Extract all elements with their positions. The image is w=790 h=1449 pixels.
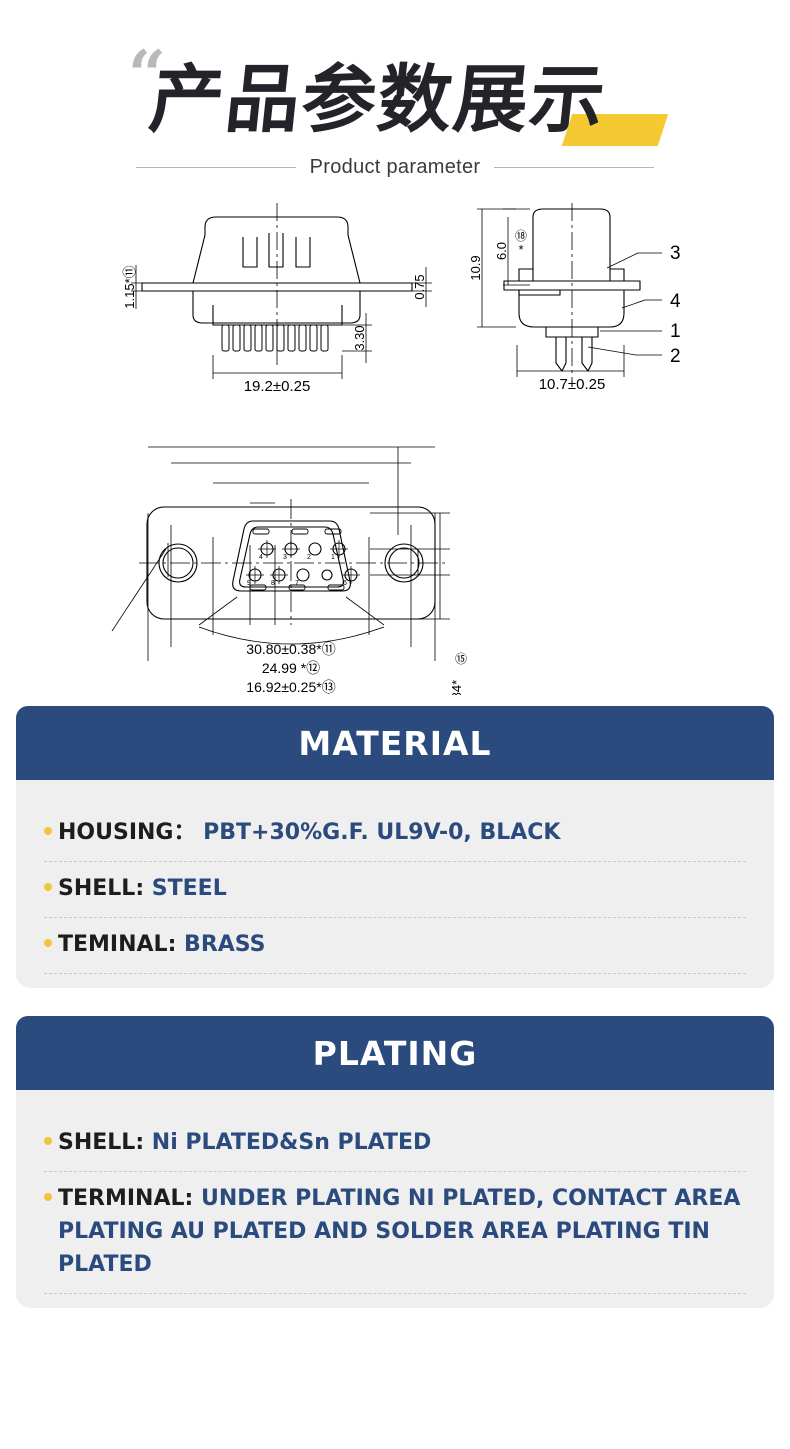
banner: “ 产品参数展示 Product parameter: [0, 0, 790, 195]
dim-24-99: 24.99 *⑫: [262, 660, 320, 676]
dim-6-0: 6.0: [494, 242, 509, 260]
plating-card-title: PLATING: [313, 1034, 478, 1073]
callout-2: 2: [670, 346, 681, 367]
front-elevation-dimensions: [131, 265, 432, 379]
technical-drawings: 1.15*⑪ 0.75 3.30 19.2±0.25 10.9 6.0 ⑱ * …: [0, 195, 790, 695]
page-subtitle: Product parameter: [310, 156, 481, 179]
drawing-canvas: 1.15*⑪ 0.75 3.30 19.2±0.25 10.9 6.0 ⑱ * …: [0, 195, 790, 695]
material-card-body: HOUSING： PBT+30%G.F. UL9V-0, BLACK SHELL…: [16, 780, 774, 988]
bullet-icon: [44, 939, 52, 947]
footprint-plan-dimensions: [112, 447, 450, 661]
dim-16-92: 16.92±0.25*⑬: [246, 679, 335, 695]
subtitle-rule-right: [494, 167, 654, 168]
dim-10-9: 10.9: [468, 255, 483, 280]
spec-row-shell: SHELL: STEEL: [44, 862, 746, 918]
dim-19-2: 19.2±0.25: [244, 378, 311, 395]
spec-label-housing: HOUSING：: [58, 820, 195, 845]
product-parameter-page: “ 产品参数展示 Product parameter: [0, 0, 790, 1449]
spec-cards: MATERIAL HOUSING： PBT+30%G.F. UL9V-0, BL…: [16, 706, 774, 1336]
callout-3: 3: [670, 243, 681, 264]
pin-label-top-4: 1: [331, 554, 335, 561]
pin-label-bottom-1: 9: [247, 580, 251, 587]
spec-label-plating-terminal: TERMINAL:: [58, 1186, 193, 1211]
material-card-header: MATERIAL: [16, 706, 774, 780]
pin-label-top-1: 4: [259, 554, 263, 561]
spec-label-plating-shell: SHELL:: [58, 1130, 144, 1155]
dim-1-15: 1.15*⑪: [122, 265, 137, 308]
material-card-title: MATERIAL: [298, 724, 491, 763]
spec-value-shell: STEEL: [152, 876, 227, 901]
bullet-icon: [44, 1193, 52, 1201]
dim-2-84: 2.84*: [449, 680, 464, 695]
spec-row-teminal: TEMINAL: BRASS: [44, 918, 746, 974]
footprint-plan-geometry: [139, 499, 446, 625]
pin-label-bottom-3: 7: [295, 580, 299, 587]
page-title: 产品参数展示: [145, 52, 675, 148]
spec-row-plating-terminal: TERMINAL: UNDER PLATING NI PLATED, CONTA…: [44, 1172, 746, 1294]
bullet-icon: [44, 827, 52, 835]
side-elevation-dimensions: [477, 209, 662, 377]
callout-4: 4: [670, 291, 681, 312]
dim-2-84-circled: ⑮: [455, 652, 467, 666]
material-card: MATERIAL HOUSING： PBT+30%G.F. UL9V-0, BL…: [16, 706, 774, 988]
spec-value-housing: PBT+30%G.F. UL9V-0, BLACK: [203, 820, 560, 845]
plating-card-header: PLATING: [16, 1016, 774, 1090]
spec-value-teminal: BRASS: [184, 932, 265, 957]
dim-circled-18: ⑱: [515, 229, 527, 243]
bullet-icon: [44, 1137, 52, 1145]
spec-row-plating-shell: SHELL: Ni PLATED&Sn PLATED: [44, 1116, 746, 1172]
pin-label-top-2: 3: [283, 554, 287, 561]
spec-label-shell: SHELL:: [58, 876, 144, 901]
pin-label-bottom-4: 6: [343, 580, 347, 587]
dim-3-30: 3.30: [352, 325, 367, 350]
dim-10-7: 10.7±0.25: [539, 376, 606, 393]
drawing-labels: 1.15*⑪ 0.75 3.30 19.2±0.25 10.9 6.0 ⑱ * …: [99, 229, 681, 695]
pin-label-top-3: 2: [307, 554, 311, 561]
bullet-icon: [44, 883, 52, 891]
dim-asterisk-18: *: [518, 242, 523, 257]
front-elevation-geometry: [142, 203, 412, 365]
spec-value-plating-shell: Ni PLATED&Sn PLATED: [152, 1130, 431, 1155]
subtitle-rule-left: [136, 167, 296, 168]
subtitle-group: Product parameter: [0, 156, 790, 179]
pin-label-bottom-2: 8: [271, 580, 275, 587]
dim-30-80: 30.80±0.38*⑪: [246, 641, 335, 657]
plating-card: PLATING SHELL: Ni PLATED&Sn PLATED: [16, 1016, 774, 1308]
plating-card-body: SHELL: Ni PLATED&Sn PLATED TERMINAL: UND…: [16, 1090, 774, 1308]
spec-label-teminal: TEMINAL:: [58, 932, 176, 957]
dim-0-75: 0.75: [412, 274, 427, 299]
spec-row-housing: HOUSING： PBT+30%G.F. UL9V-0, BLACK: [44, 806, 746, 862]
callout-1: 1: [670, 321, 681, 342]
